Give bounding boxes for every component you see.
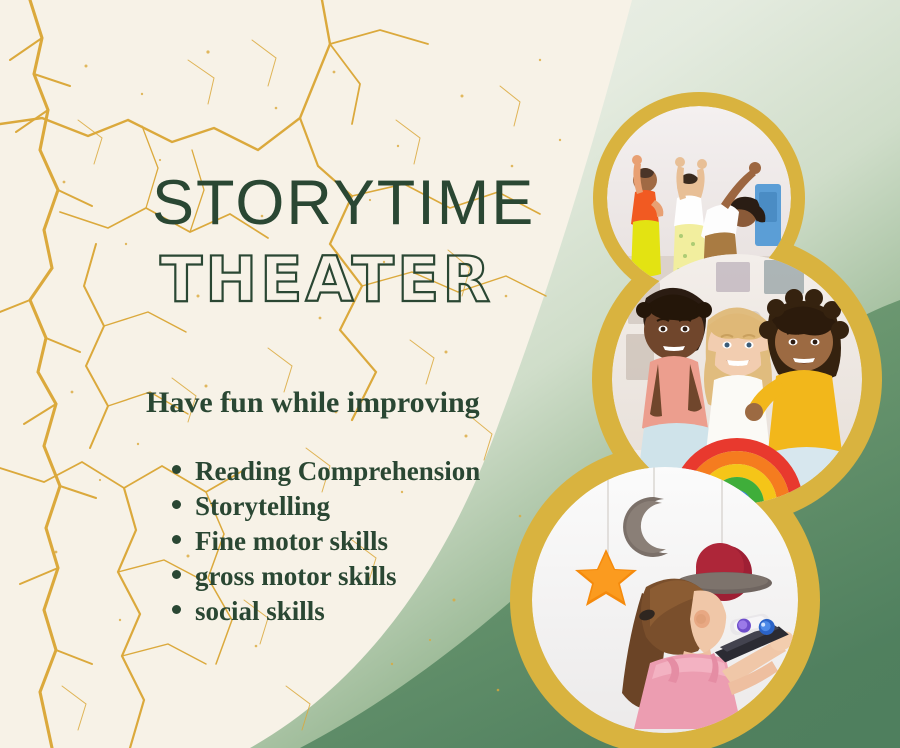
list-item: gross motor skills	[172, 561, 480, 596]
poster-text-content: STORYTIME THEATER Have fun while improvi…	[0, 0, 560, 748]
list-item: social skills	[172, 596, 480, 631]
list-item-label: Fine motor skills	[195, 526, 388, 557]
page-subtitle: THEATER	[160, 243, 493, 316]
benefits-list: Reading Comprehension Storytelling Fine …	[172, 456, 480, 631]
page-title: STORYTIME	[152, 172, 535, 235]
list-item: Reading Comprehension	[172, 456, 480, 491]
list-item-label: gross motor skills	[195, 561, 397, 592]
bullet-icon	[172, 500, 181, 509]
tagline: Have fun while improving	[146, 386, 480, 420]
list-item: Fine motor skills	[172, 526, 480, 561]
photo-girl-playing-with-spaceship-toy	[532, 467, 798, 733]
photo-three-children-with-rainbow-toy	[612, 254, 862, 504]
list-item: Storytelling	[172, 491, 480, 526]
bullet-icon	[172, 465, 181, 474]
page-subtitle-wrap: THEATER	[160, 249, 493, 311]
list-item-label: Storytelling	[195, 491, 330, 522]
list-item-label: Reading Comprehension	[195, 456, 480, 487]
bullet-icon	[172, 535, 181, 544]
list-item-label: social skills	[195, 596, 325, 627]
bullet-icon	[172, 605, 181, 614]
poster-canvas: STORYTIME THEATER Have fun while improvi…	[0, 0, 900, 748]
bullet-icon	[172, 570, 181, 579]
